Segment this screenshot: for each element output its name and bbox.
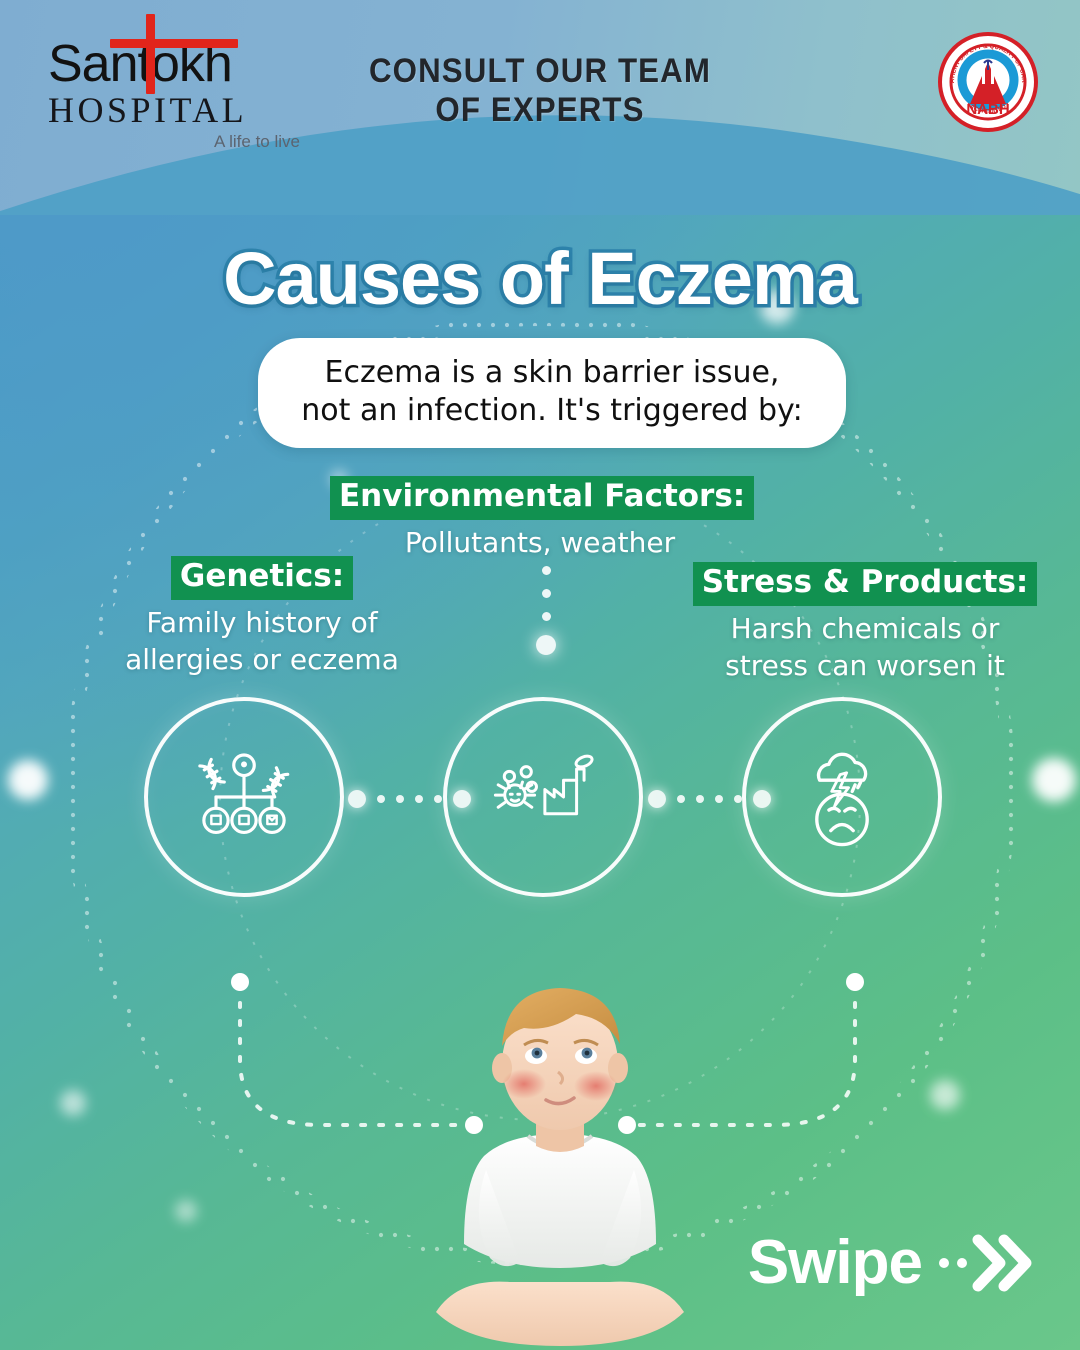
- poster-canvas: Santokh HOSPITAL A life to live CONSULT …: [0, 0, 1080, 1350]
- connector-dot: [542, 589, 551, 598]
- cause-heading-environmental: Environmental Factors:: [330, 476, 754, 520]
- connector-node-dot: [536, 635, 556, 655]
- connector-dot: [677, 795, 685, 803]
- factory-pollution-icon: [487, 741, 599, 853]
- brand-name-wordmark: Santokh: [48, 38, 308, 90]
- cause-description-stress: Harsh chemicals or stress can worsen it: [690, 611, 1040, 685]
- cause-desc-line-2: allergies or eczema: [72, 642, 452, 679]
- cause-block-environmental: Environmental Factors: Pollutants, weath…: [330, 476, 750, 562]
- connector-dot: [542, 612, 551, 621]
- cause-desc-line-2: stress can worsen it: [690, 648, 1040, 685]
- brand-subtitle: HOSPITAL: [48, 92, 308, 130]
- subtitle-line-2: not an infection. It's triggered by:: [284, 392, 820, 430]
- brand-logo: Santokh HOSPITAL A life to live: [48, 38, 308, 152]
- connector-dot: [715, 795, 723, 803]
- cause-desc-line-1: Family history of: [72, 605, 452, 642]
- connector-dot: [377, 795, 385, 803]
- icon-circle-environmental: [443, 697, 643, 897]
- connector-node-dot: [453, 790, 471, 808]
- brand-tagline: A life to live: [48, 132, 308, 152]
- connector-dot: [734, 795, 742, 803]
- dna-family-tree-icon: [188, 741, 300, 853]
- subtitle-line-1: Eczema is a skin barrier issue,: [284, 354, 820, 392]
- connector-dot: [696, 795, 704, 803]
- header-cta-heading: CONSULT OUR TEAM OF EXPERTS: [356, 52, 724, 131]
- connector-dot: [434, 795, 442, 803]
- vertical-connector-dots: [536, 566, 556, 655]
- header-cta-line2: OF EXPERTS: [356, 91, 724, 130]
- connector-dots-right: [648, 790, 771, 808]
- red-cross-vertical-icon: [146, 14, 155, 94]
- header-cta-line1: CONSULT OUR TEAM: [356, 52, 724, 91]
- connector-dot: [542, 566, 551, 575]
- swipe-label: Swipe: [748, 1227, 922, 1298]
- header-band: Santokh HOSPITAL A life to live CONSULT …: [0, 0, 1080, 215]
- page-title: Causes of Eczema: [0, 236, 1080, 321]
- connector-dot: [415, 795, 423, 803]
- cause-desc-line-1: Harsh chemicals or: [690, 611, 1040, 648]
- nabh-accreditation-badge-icon: NABH PATIENT SAFETY & QUALITY OF CARE • …: [938, 32, 1038, 132]
- icon-circle-genetics: [144, 697, 344, 897]
- cause-description-genetics: Family history of allergies or eczema: [72, 605, 452, 679]
- connector-node-dot: [348, 790, 366, 808]
- cause-heading-stress: Stress & Products:: [693, 562, 1038, 606]
- cause-block-stress: Stress & Products: Harsh chemicals or st…: [690, 562, 1040, 685]
- connector-node-dot: [648, 790, 666, 808]
- child-photo: [400, 960, 720, 1350]
- connector-dots-left: [348, 790, 471, 808]
- swipe-indicator[interactable]: Swipe: [748, 1227, 1032, 1298]
- connector-dot: [396, 795, 404, 803]
- subtitle-callout: Eczema is a skin barrier issue, not an i…: [258, 338, 846, 448]
- double-chevron-right-icon[interactable]: [936, 1232, 1032, 1294]
- cause-block-genetics: Genetics: Family history of allergies or…: [72, 556, 452, 679]
- connector-node-dot: [753, 790, 771, 808]
- storm-cloud-sad-face-icon: [786, 741, 898, 853]
- icon-circle-stress: [742, 697, 942, 897]
- cause-heading-genetics: Genetics:: [171, 556, 353, 600]
- red-cross-horizontal-icon: [110, 39, 238, 48]
